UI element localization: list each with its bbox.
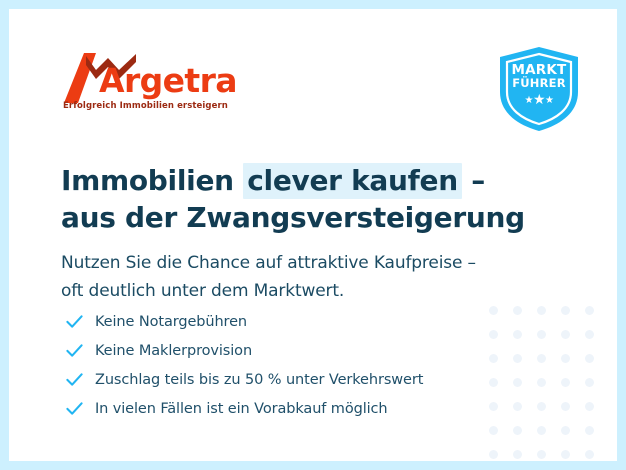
list-item: In vielen Fällen ist ein Vorabkauf mögli… bbox=[65, 394, 423, 423]
shield-badge-icon bbox=[496, 45, 582, 133]
headline-text-after: – bbox=[462, 164, 485, 197]
dot bbox=[489, 426, 498, 435]
market-leader-badge: MARKT FÜHRER ★★★ bbox=[496, 45, 582, 133]
dot bbox=[585, 426, 594, 435]
list-item: Zuschlag teils bis zu 50 % unter Verkehr… bbox=[65, 365, 423, 394]
dot bbox=[489, 378, 498, 387]
logo-mark-row: Argetra bbox=[62, 53, 262, 103]
list-item: Keine Notargebühren bbox=[65, 307, 423, 336]
subheadline-line-2: oft deutlich unter dem Marktwert. bbox=[61, 278, 476, 306]
dot bbox=[585, 402, 594, 411]
dot bbox=[513, 330, 522, 339]
headline-line-2: aus der Zwangsversteigerung bbox=[61, 199, 525, 236]
page-title: Immobilien clever kaufen – aus der Zwang… bbox=[61, 162, 525, 236]
headline-text-before: Immobilien bbox=[61, 164, 243, 197]
dot bbox=[537, 306, 546, 315]
benefit-label: In vielen Fällen ist ein Vorabkauf mögli… bbox=[95, 401, 388, 417]
dot bbox=[585, 354, 594, 363]
dot bbox=[537, 426, 546, 435]
dot bbox=[489, 330, 498, 339]
subheadline-line-1: Nutzen Sie die Chance auf attraktive Kau… bbox=[61, 250, 476, 278]
dot bbox=[561, 426, 570, 435]
dot bbox=[561, 330, 570, 339]
dot bbox=[537, 330, 546, 339]
dot bbox=[585, 306, 594, 315]
dot bbox=[561, 354, 570, 363]
dot bbox=[513, 402, 522, 411]
ad-banner-frame: Argetra Erfolgreich Immobilien ersteiger… bbox=[0, 0, 626, 470]
dot bbox=[537, 354, 546, 363]
headline-highlight: clever kaufen bbox=[243, 163, 462, 199]
dot bbox=[561, 378, 570, 387]
dot bbox=[513, 450, 522, 459]
check-icon bbox=[65, 312, 84, 331]
dot-grid-decoration bbox=[489, 306, 609, 461]
dot bbox=[513, 426, 522, 435]
headline-line-1: Immobilien clever kaufen – bbox=[61, 162, 525, 199]
dot bbox=[537, 378, 546, 387]
dot bbox=[489, 450, 498, 459]
benefit-label: Keine Notargebühren bbox=[95, 314, 247, 330]
benefit-label: Keine Maklerprovision bbox=[95, 343, 252, 359]
check-icon bbox=[65, 341, 84, 360]
dot bbox=[585, 378, 594, 387]
dot bbox=[513, 378, 522, 387]
list-item: Keine Maklerprovision bbox=[65, 336, 423, 365]
ad-banner-canvas: Argetra Erfolgreich Immobilien ersteiger… bbox=[9, 9, 617, 461]
dot bbox=[489, 354, 498, 363]
dot bbox=[489, 402, 498, 411]
dot bbox=[489, 306, 498, 315]
logo-tagline: Erfolgreich Immobilien ersteigern bbox=[63, 101, 228, 111]
dot bbox=[561, 450, 570, 459]
benefits-list: Keine Notargebühren Keine Maklerprovisio… bbox=[65, 307, 423, 423]
dot bbox=[513, 306, 522, 315]
logo-wordmark: Argetra bbox=[99, 64, 237, 97]
dot bbox=[513, 354, 522, 363]
check-icon bbox=[65, 399, 84, 418]
dot bbox=[537, 402, 546, 411]
subheadline: Nutzen Sie die Chance auf attraktive Kau… bbox=[61, 250, 476, 305]
dot bbox=[561, 402, 570, 411]
check-icon bbox=[65, 370, 84, 389]
argetra-logo[interactable]: Argetra Erfolgreich Immobilien ersteiger… bbox=[62, 53, 262, 103]
benefit-label: Zuschlag teils bis zu 50 % unter Verkehr… bbox=[95, 372, 423, 388]
dot bbox=[561, 306, 570, 315]
dot bbox=[585, 330, 594, 339]
dot bbox=[585, 450, 594, 459]
dot bbox=[537, 450, 546, 459]
